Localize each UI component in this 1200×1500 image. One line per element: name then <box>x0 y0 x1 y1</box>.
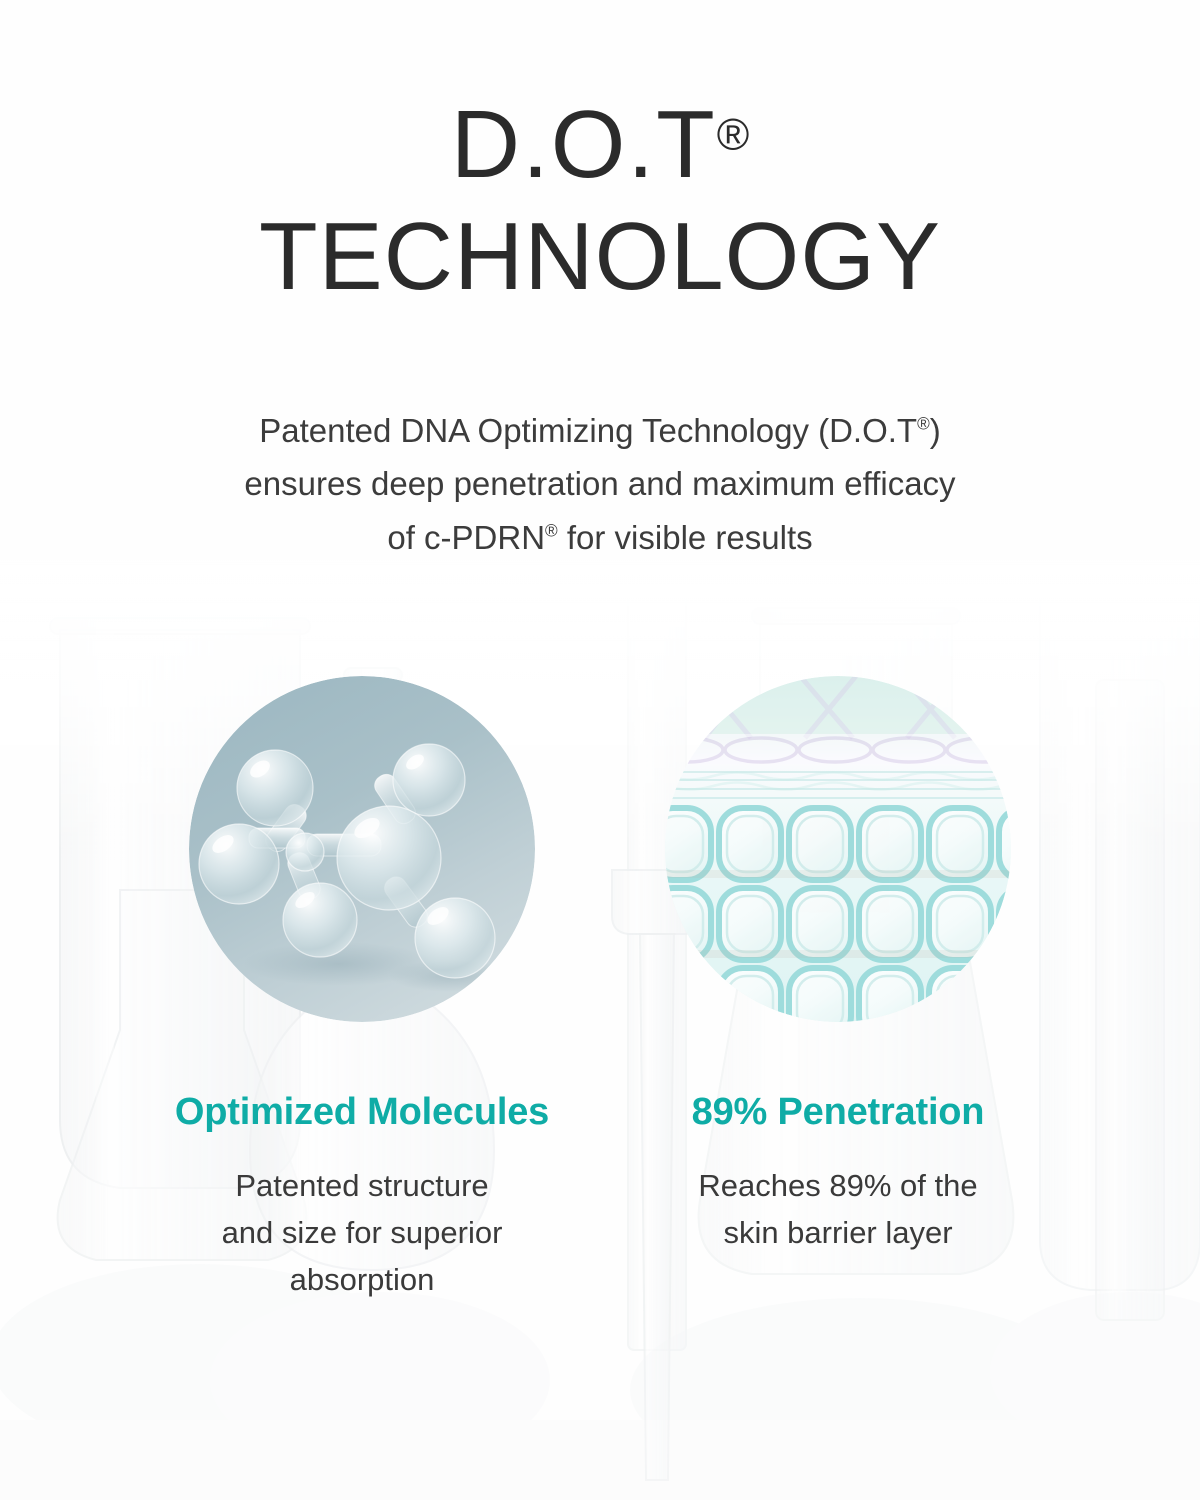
molecule-illustration <box>189 676 535 1022</box>
registered-trademark-icon: ® <box>717 111 750 160</box>
infographic-page: D.O.T® TECHNOLOGY Patented DNA Optimizin… <box>0 0 1200 1500</box>
page-subtitle: Patented DNA Optimizing Technology (D.O.… <box>0 404 1200 564</box>
feature-body-optimized-molecules: Patented structure and size for superior… <box>222 1162 503 1303</box>
feature-columns: Optimized Molecules Patented structure a… <box>0 676 1200 1303</box>
feature-body-line: skin barrier layer <box>723 1215 952 1250</box>
feature-body-penetration: Reaches 89% of the skin barrier layer <box>698 1162 977 1256</box>
feature-optimized-molecules: Optimized Molecules Patented structure a… <box>92 676 632 1303</box>
feature-body-line: Reaches 89% of the <box>698 1168 977 1203</box>
feature-penetration: 89% Penetration Reaches 89% of the skin … <box>568 676 1108 1256</box>
feature-body-line: absorption <box>290 1262 435 1297</box>
subtitle-line-one-text: Patented DNA Optimizing Technology (D.O.… <box>259 412 917 449</box>
subtitle-line-three-tail: for visible results <box>558 519 813 556</box>
subtitle-line-three: of c-PDRN® for visible results <box>387 519 812 556</box>
registered-trademark-icon: ® <box>917 414 930 434</box>
feature-body-line: and size for superior <box>222 1215 503 1250</box>
feature-title-optimized-molecules: Optimized Molecules <box>175 1090 549 1136</box>
subtitle-line-one: Patented DNA Optimizing Technology (D.O.… <box>259 412 941 449</box>
subtitle-line-two: ensures deep penetration and maximum eff… <box>244 465 955 502</box>
registered-trademark-icon: ® <box>545 521 558 541</box>
subtitle-line-three-text: of c-PDRN <box>387 519 545 556</box>
skin-barrier-cells-illustration <box>665 676 1011 1022</box>
title-dot-text: D.O.T <box>451 91 717 198</box>
title-line-one: D.O.T® <box>0 96 1200 194</box>
subtitle-line-one-close: ) <box>930 412 941 449</box>
title-line-two: TECHNOLOGY <box>0 208 1200 306</box>
feature-title-penetration: 89% Penetration <box>692 1090 985 1136</box>
feature-body-line: Patented structure <box>235 1168 488 1203</box>
page-title: D.O.T® TECHNOLOGY <box>0 96 1200 306</box>
